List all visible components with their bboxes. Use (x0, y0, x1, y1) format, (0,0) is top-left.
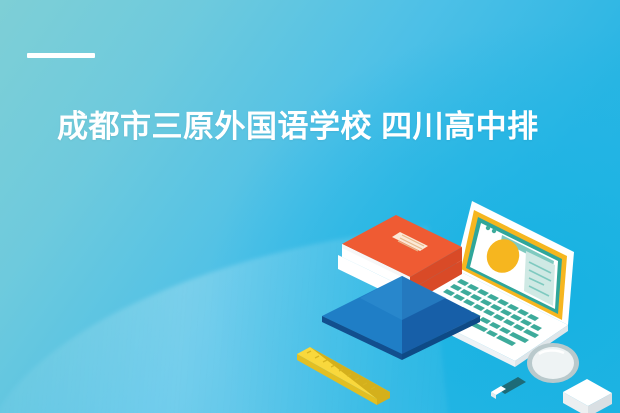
ruler (297, 347, 390, 405)
study-desk-illustration (250, 180, 620, 413)
eraser (563, 379, 612, 413)
banner-image: 成都市三原外国语学校 四川高中排 (0, 0, 620, 413)
banner-title: 成都市三原外国语学校 四川高中排 (57, 106, 620, 148)
decorative-dash (27, 53, 95, 58)
